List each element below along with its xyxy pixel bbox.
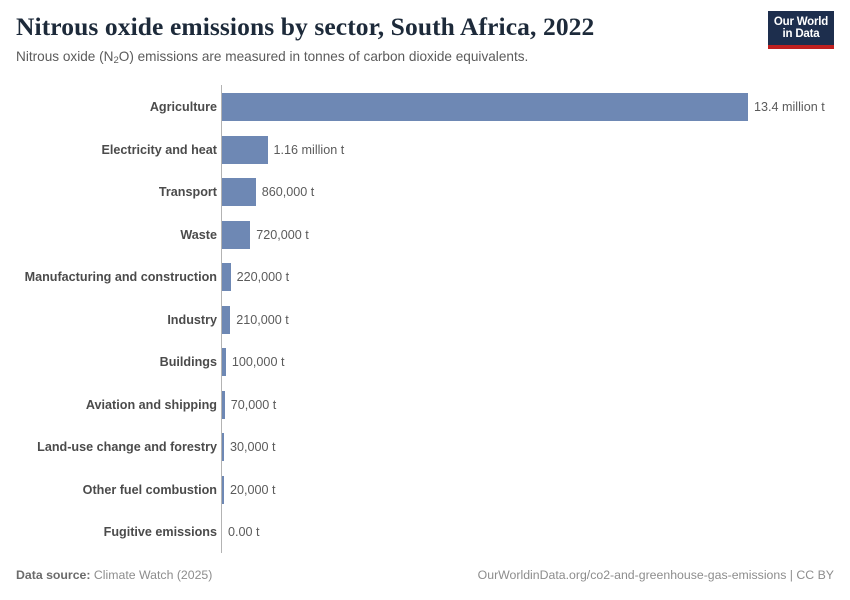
- bar-row: Agriculture13.4 million t: [0, 93, 850, 121]
- bar-category-label: Fugitive emissions: [104, 518, 217, 546]
- chart-page: Nitrous oxide emissions by sector, South…: [0, 0, 850, 600]
- data-source: Data source: Climate Watch (2025): [16, 568, 212, 582]
- bar-row: Manufacturing and construction220,000 t: [0, 263, 850, 291]
- bar-value-label: 30,000 t: [230, 433, 276, 461]
- bar-category-label: Manufacturing and construction: [25, 263, 217, 291]
- bar-value-label: 100,000 t: [232, 348, 285, 376]
- bar-category-label: Waste: [180, 221, 217, 249]
- bar-category-label: Land-use change and forestry: [37, 433, 217, 461]
- bar-category-label: Buildings: [160, 348, 217, 376]
- chart-subtitle: Nitrous oxide (N2O) emissions are measur…: [16, 48, 834, 68]
- subtitle-subscript: 2: [113, 55, 118, 66]
- bar-row: Transport860,000 t: [0, 178, 850, 206]
- subtitle-part-2: O) emissions are measured in tonnes of c…: [119, 49, 529, 64]
- bar[interactable]: [222, 93, 748, 121]
- bar-row: Aviation and shipping70,000 t: [0, 391, 850, 419]
- chart-header: Nitrous oxide emissions by sector, South…: [16, 12, 834, 68]
- bar-row: Waste720,000 t: [0, 221, 850, 249]
- bar-category-label: Agriculture: [150, 93, 217, 121]
- owid-logo-line-1: Our World: [774, 16, 828, 28]
- bar-row: Other fuel combustion20,000 t: [0, 476, 850, 504]
- bar[interactable]: [222, 136, 268, 164]
- bar-row: Fugitive emissions0.00 t: [0, 518, 850, 546]
- bar[interactable]: [222, 391, 225, 419]
- data-source-label: Data source:: [16, 568, 91, 582]
- chart-plot-area: Agriculture13.4 million tElectricity and…: [0, 85, 850, 553]
- bar-value-label: 720,000 t: [256, 221, 309, 249]
- bar-row: Electricity and heat1.16 million t: [0, 136, 850, 164]
- owid-logo-line-2: in Data: [783, 28, 820, 40]
- bar[interactable]: [222, 476, 224, 504]
- bar[interactable]: [222, 221, 250, 249]
- owid-logo[interactable]: Our World in Data: [768, 11, 834, 49]
- bar-value-label: 1.16 million t: [274, 136, 345, 164]
- bar-value-label: 220,000 t: [237, 263, 290, 291]
- bar-row: Land-use change and forestry30,000 t: [0, 433, 850, 461]
- bar-category-label: Industry: [167, 306, 217, 334]
- bar-row: Industry210,000 t: [0, 306, 850, 334]
- page-title: Nitrous oxide emissions by sector, South…: [16, 12, 834, 42]
- bar[interactable]: [222, 178, 256, 206]
- bar[interactable]: [222, 433, 224, 461]
- bar-value-label: 20,000 t: [230, 476, 276, 504]
- bar-category-label: Aviation and shipping: [86, 391, 217, 419]
- bar[interactable]: [222, 348, 226, 376]
- bar-value-label: 0.00 t: [228, 518, 260, 546]
- bar-category-label: Electricity and heat: [102, 136, 217, 164]
- bar[interactable]: [222, 306, 230, 334]
- data-source-value: Climate Watch (2025): [91, 568, 213, 582]
- attribution-link[interactable]: OurWorldinData.org/co2-and-greenhouse-ga…: [478, 568, 834, 582]
- bar-value-label: 860,000 t: [262, 178, 315, 206]
- bar-value-label: 70,000 t: [231, 391, 277, 419]
- chart-footer: Data source: Climate Watch (2025) OurWor…: [16, 568, 834, 586]
- bar-row: Buildings100,000 t: [0, 348, 850, 376]
- bar-value-label: 13.4 million t: [754, 93, 825, 121]
- bar[interactable]: [222, 263, 231, 291]
- bar-value-label: 210,000 t: [236, 306, 289, 334]
- bar-category-label: Other fuel combustion: [83, 476, 217, 504]
- bar-category-label: Transport: [159, 178, 217, 206]
- subtitle-part-1: Nitrous oxide (N: [16, 49, 113, 64]
